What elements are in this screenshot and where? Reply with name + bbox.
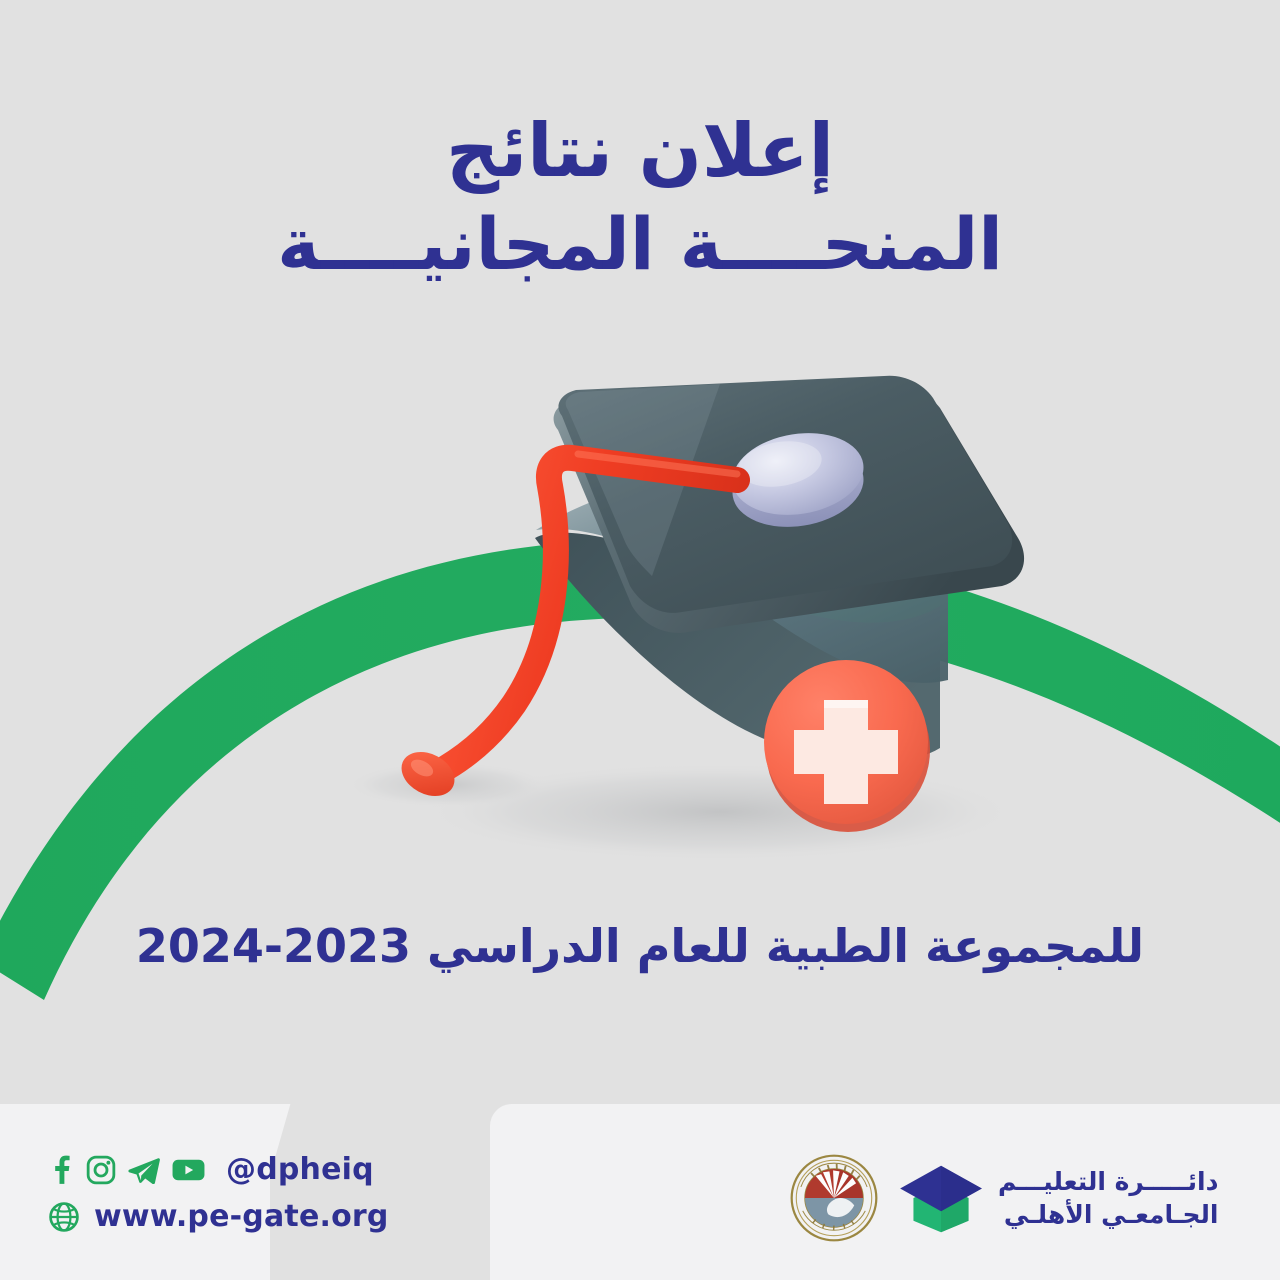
graduation-cap-logo-icon: [898, 1160, 984, 1236]
social-links: @dpheiq: [48, 1152, 374, 1187]
department-name-line-2: الجـامعـي الأهلـي: [998, 1198, 1218, 1231]
department-name: دائـــــرة التعليـــم الجـامعـي الأهلـي: [998, 1165, 1218, 1231]
poster-canvas: إعلان نتائج المنحــــة المجانيــــة للمج…: [0, 0, 1280, 1280]
telegram-icon[interactable]: [127, 1155, 160, 1184]
page-title: إعلان نتائج المنحــــة المجانيــــة: [0, 112, 1280, 284]
department-brand: دائـــــرة التعليـــم الجـامعـي الأهلـي: [788, 1152, 1218, 1244]
website-url[interactable]: www.pe-gate.org: [94, 1199, 389, 1234]
graduation-cap-stethoscope-illustration: [300, 370, 1080, 870]
globe-icon: [48, 1201, 80, 1233]
footer-panel-left: [0, 1104, 270, 1280]
social-handle[interactable]: @dpheiq: [226, 1152, 374, 1187]
department-name-line-1: دائـــــرة التعليـــم: [998, 1165, 1218, 1198]
facebook-icon[interactable]: [48, 1154, 75, 1185]
subtitle: للمجموعة الطبية للعام الدراسي 2023-2024: [0, 918, 1280, 976]
ministry-seal-logo-icon: [788, 1152, 880, 1244]
title-line-2: المنحــــة المجانيــــة: [0, 206, 1280, 284]
website-link[interactable]: www.pe-gate.org: [48, 1199, 389, 1234]
youtube-icon[interactable]: [171, 1157, 206, 1183]
instagram-icon[interactable]: [86, 1155, 116, 1185]
title-line-1: إعلان نتائج: [0, 112, 1280, 192]
